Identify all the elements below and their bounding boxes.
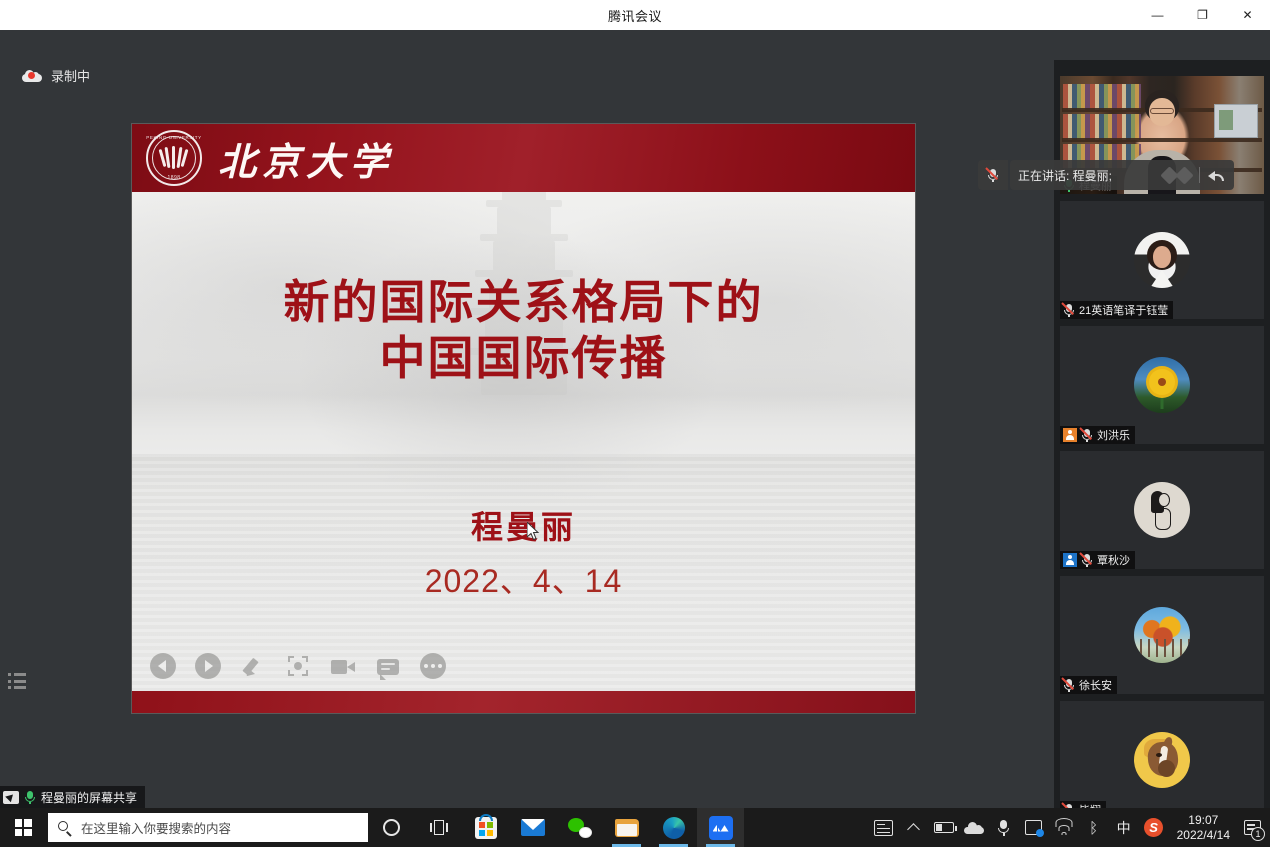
speaking-indicator-bar: 正在讲话: 程曼丽; [1010,160,1234,190]
participant-name: 刘洪乐 [1097,427,1130,443]
system-tray: ᛒ 中 S 19:07 2022/4/14 1 [869,808,1270,847]
avatar [1134,232,1190,288]
seal-top-text: PEKING UNIVERSITY [146,135,201,140]
windows-taskbar: 在这里输入你要搜索的内容 [0,808,1270,847]
taskbar-item-microsoft-store[interactable] [462,808,509,847]
avatar [1134,357,1190,413]
taskbar-item-microsoft-edge[interactable] [650,808,697,847]
ime-language-icon[interactable]: 中 [1109,808,1139,847]
participant-tile-yuyuying[interactable]: 21英语笔译于钰莹 [1060,201,1264,319]
annotate-pencil-icon[interactable] [240,653,266,679]
more-icon[interactable] [420,653,446,679]
taskbar-item-tencent-meeting[interactable] [697,808,744,847]
share-status-label: 程曼丽的屏幕共享 [41,789,137,806]
share-status-pill: 程曼丽的屏幕共享 [0,786,145,808]
bluetooth-icon[interactable]: ᛒ [1079,808,1109,847]
news-and-interests-icon[interactable] [869,808,899,847]
participant-name: 覃秋沙 [1097,552,1130,568]
avatar [1134,482,1190,538]
close-button[interactable]: ✕ [1225,0,1270,30]
bluetooth-glyph: ᛒ [1089,819,1098,837]
search-input[interactable]: 在这里输入你要搜索的内容 [48,813,368,842]
screenshot-tool-icon[interactable] [1019,808,1049,847]
meeting-stage: 录制中 [0,30,1270,808]
screen-share-icon [3,791,19,804]
search-icon [58,821,72,835]
minimize-button[interactable]: — [1135,0,1180,30]
taskbar-item-file-explorer[interactable] [603,808,650,847]
search-placeholder: 在这里输入你要搜索的内容 [81,818,231,837]
task-view-icon [430,820,448,835]
cortana-icon [383,819,400,836]
slide-date: 2022、4、14 [132,556,915,602]
avatar [1134,732,1190,788]
microphone-icon[interactable] [989,808,1019,847]
seal-glyph [159,145,189,171]
seal-bottom-text: 1898 [167,175,180,181]
slide-footer-banner [132,691,915,713]
participant-list-icon[interactable] [8,670,30,692]
shared-screen-slide[interactable]: PEKING UNIVERSITY 1898 北京大学 新的国际关系格局下的 中… [132,124,915,713]
mic-muted-icon [1063,303,1075,317]
recording-indicator: 录制中 [22,66,90,85]
clock-date: 2022/4/14 [1177,828,1230,843]
sogou-input-icon[interactable]: S [1139,808,1169,847]
taskbar-item-wechat[interactable] [556,808,603,847]
onedrive-cloud-icon[interactable] [959,808,989,847]
participant-name: 徐长安 [1079,677,1112,693]
participant-tile-qinqiusha[interactable]: 覃秋沙 [1060,451,1264,569]
next-slide-button[interactable] [195,653,221,679]
mic-muted-icon [1063,678,1075,692]
cloud-record-icon [22,69,42,82]
participant-name-bar: 徐长安 [1060,676,1117,694]
avatar [1134,607,1190,663]
participant-name: 21英语笔译于钰莹 [1079,302,1168,318]
mic-on-icon [24,790,36,804]
share-status-strip: 程曼丽的屏幕共享 [0,786,1054,808]
mouse-cursor [527,522,541,542]
slide-title-line-1: 新的国际关系格局下的 [132,274,915,330]
ime-label: 中 [1117,818,1131,838]
start-button[interactable] [0,808,46,847]
participant-name-bar: 覃秋沙 [1060,551,1135,569]
participant-tile-liuhongle[interactable]: 刘洪乐 [1060,326,1264,444]
battery-icon[interactable] [929,808,959,847]
slide-title: 新的国际关系格局下的 中国国际传播 [132,274,915,386]
divider [1199,167,1200,183]
mail-icon [521,819,545,836]
speaking-mic-muted-icon [978,160,1008,190]
slide-title-line-2: 中国国际传播 [132,330,915,386]
participant-tile-xuchangan[interactable]: 徐长安 [1060,576,1264,694]
speaking-label: 正在讲话: 程曼丽; [1018,167,1155,184]
window-titlebar: 腾讯会议 — ❐ ✕ [0,0,1270,30]
tencent-meeting-icon [709,816,733,840]
tencent-meeting-window: 腾讯会议 — ❐ ✕ 录制中 [0,0,1270,847]
microsoft-store-icon [475,817,497,839]
clock-time: 19:07 [1177,813,1230,828]
maximize-button[interactable]: ❐ [1180,0,1225,30]
sogou-label: S [1144,818,1163,837]
cohost-badge-icon [1063,553,1077,567]
mic-muted-icon [1081,428,1093,442]
camera-icon[interactable] [330,653,356,679]
taskbar-item-cortana[interactable] [368,808,415,847]
participant-name-bar: 刘洪乐 [1060,426,1135,444]
participant-tile-bixiang[interactable]: 毕翔 [1060,701,1264,819]
slide-header-banner: PEKING UNIVERSITY 1898 北京大学 [132,124,915,192]
file-explorer-icon [615,818,639,837]
microsoft-edge-icon [663,817,685,839]
taskbar-item-mail[interactable] [509,808,556,847]
taskbar-item-task-view[interactable] [415,808,462,847]
wechat-icon [568,818,592,838]
university-name: 北京大学 [218,131,394,186]
show-hidden-icons-chevron-icon[interactable] [899,808,929,847]
windows-logo-icon [15,819,32,836]
recording-label: 录制中 [51,66,90,85]
clock[interactable]: 19:07 2022/4/14 [1169,813,1238,843]
chat-icon[interactable] [375,653,401,679]
window-controls: — ❐ ✕ [1135,0,1270,30]
spotlight-icon[interactable] [285,653,311,679]
participant-name-bar: 21英语笔译于钰莹 [1060,301,1173,319]
slide-toolbar [150,653,446,679]
notification-count: 1 [1251,827,1265,841]
window-title: 腾讯会议 [608,6,662,25]
notification-center-button[interactable]: 1 [1238,808,1266,847]
host-badge-icon [1063,428,1077,442]
peking-university-seal-icon: PEKING UNIVERSITY 1898 [146,130,202,186]
slide-author: 程曼丽 [132,502,915,548]
wifi-icon[interactable] [1049,808,1079,847]
reply-arrow-icon[interactable] [1208,168,1226,182]
previous-slide-button[interactable] [150,653,176,679]
mic-muted-icon [1081,553,1093,567]
audio-level-icon [1163,169,1191,182]
